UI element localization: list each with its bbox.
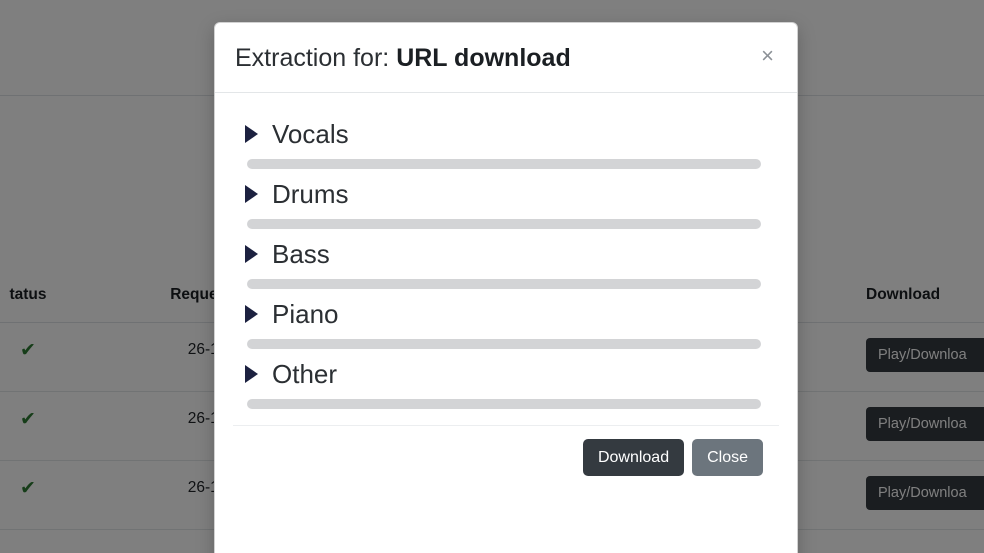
stem-progress-bar[interactable] (247, 279, 761, 289)
play-triangle-icon[interactable] (245, 305, 258, 323)
modal-title: Extraction for: URL download (235, 43, 571, 73)
extraction-modal: Extraction for: URL download × Vocals Dr… (214, 22, 798, 553)
stem-label: Bass (272, 240, 330, 269)
app-root: tatus Requeste Download ✔ 26-11-2 Play/D… (0, 0, 984, 553)
stem-progress-bar[interactable] (247, 159, 761, 169)
stem-progress-bar[interactable] (247, 219, 761, 229)
modal-body: Vocals Drums Bass (215, 93, 797, 553)
play-triangle-icon[interactable] (245, 185, 258, 203)
modal-header: Extraction for: URL download × (215, 23, 797, 93)
stem-drums: Drums (233, 169, 779, 229)
stem-label: Other (272, 360, 337, 389)
stem-play-row[interactable]: Piano (233, 289, 779, 339)
close-icon[interactable]: × (755, 41, 780, 71)
stem-label: Piano (272, 300, 339, 329)
modal-title-prefix: Extraction for: (235, 44, 389, 72)
stem-label: Vocals (272, 120, 349, 149)
stem-play-row[interactable]: Vocals (233, 109, 779, 159)
close-button[interactable]: Close (692, 439, 763, 476)
stem-progress-bar[interactable] (247, 339, 761, 349)
modal-title-value: URL download (396, 44, 571, 72)
stem-play-row[interactable]: Drums (233, 169, 779, 219)
stem-bass: Bass (233, 229, 779, 289)
stem-play-row[interactable]: Bass (233, 229, 779, 279)
stem-label: Drums (272, 180, 349, 209)
stem-other: Other (233, 349, 779, 409)
stem-play-row[interactable]: Other (233, 349, 779, 399)
play-triangle-icon[interactable] (245, 125, 258, 143)
stem-vocals: Vocals (233, 109, 779, 169)
stem-progress-bar[interactable] (247, 399, 761, 409)
stem-piano: Piano (233, 289, 779, 349)
play-triangle-icon[interactable] (245, 245, 258, 263)
play-triangle-icon[interactable] (245, 365, 258, 383)
download-button[interactable]: Download (583, 439, 684, 476)
modal-footer: Download Close (233, 425, 779, 490)
